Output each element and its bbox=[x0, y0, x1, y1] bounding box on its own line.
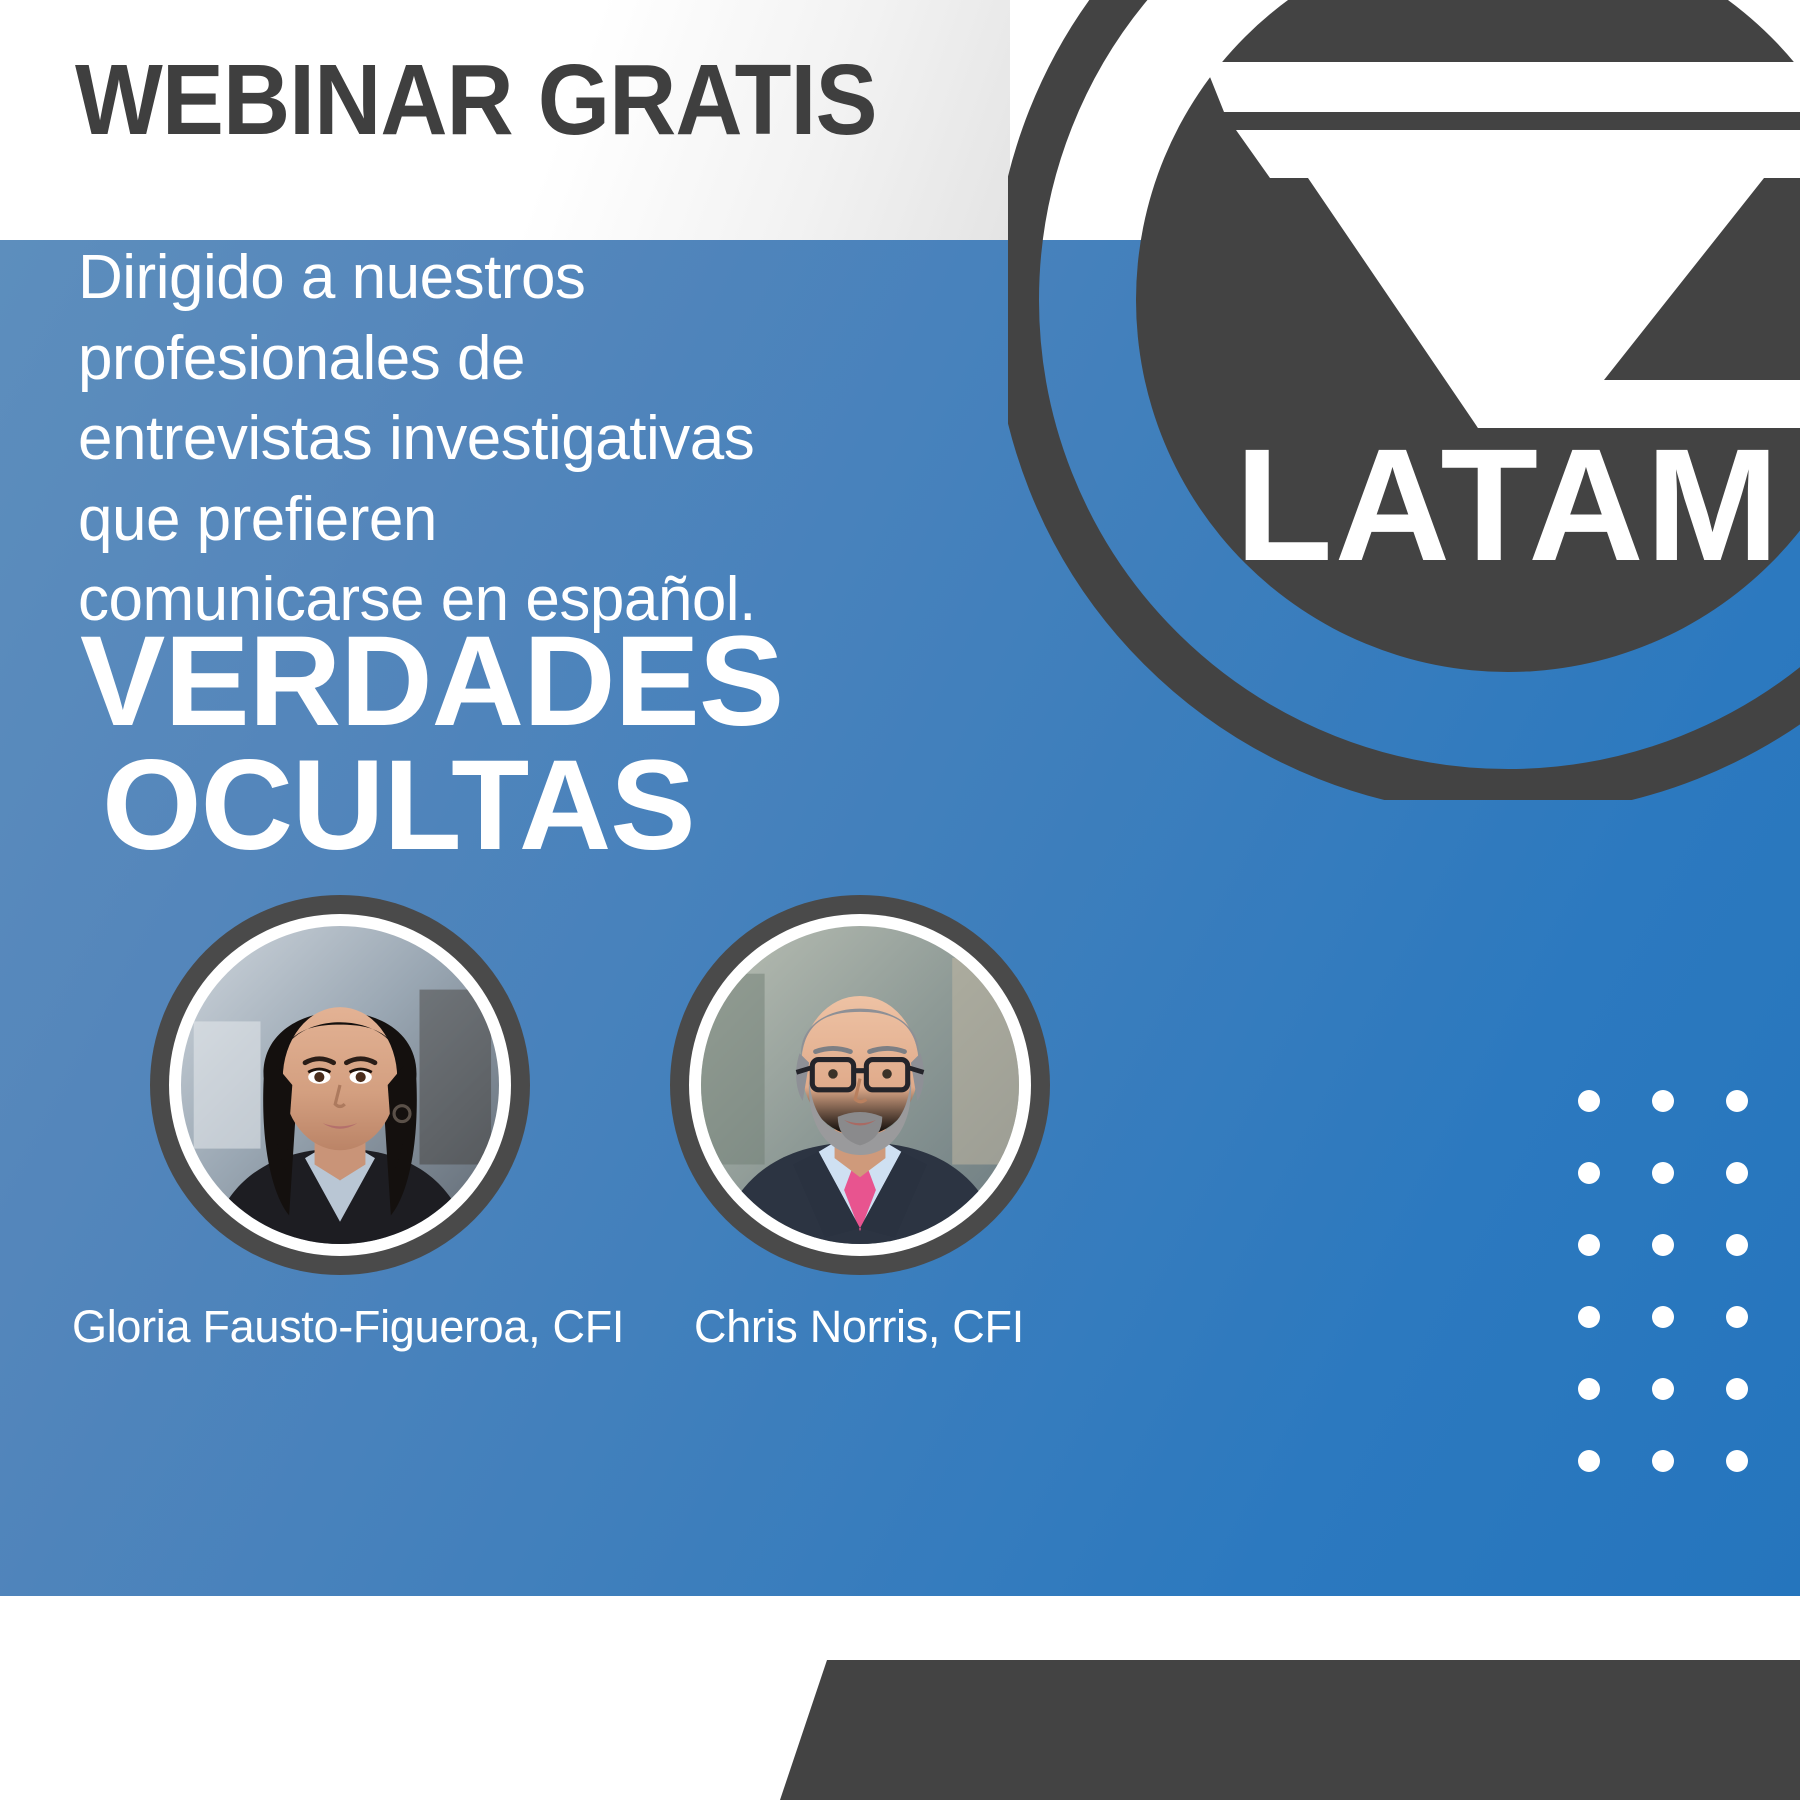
grid-dot bbox=[1578, 1378, 1600, 1400]
dot-grid-row bbox=[1578, 1234, 1800, 1306]
lead-copy: Dirigido a nuestros profesionales de ent… bbox=[78, 238, 878, 641]
grid-dot bbox=[1578, 1162, 1600, 1184]
grid-dot bbox=[1652, 1306, 1674, 1328]
avatar bbox=[150, 895, 530, 1275]
grid-dot bbox=[1652, 1378, 1674, 1400]
dot-grid-row bbox=[1578, 1162, 1800, 1234]
avatar-white-ring bbox=[169, 914, 511, 1256]
logo-wordmark: LATAM bbox=[1235, 415, 1781, 594]
grid-dot bbox=[1578, 1090, 1600, 1112]
avatar bbox=[670, 895, 1050, 1275]
speaker-name-1: Gloria Fausto-Figueroa, CFI bbox=[72, 1301, 624, 1353]
dot-grid-row bbox=[1578, 1306, 1800, 1378]
header-title: WEBINAR GRATIS bbox=[75, 48, 877, 153]
grid-dot bbox=[1726, 1162, 1748, 1184]
grid-dot bbox=[1726, 1450, 1748, 1472]
dot-grid-row bbox=[1578, 1378, 1800, 1450]
dot-grid-decoration bbox=[1578, 1090, 1800, 1522]
bottom-parallelogram-shape bbox=[780, 1660, 1800, 1800]
avatar-white-ring bbox=[689, 914, 1031, 1256]
grid-dot bbox=[1578, 1306, 1600, 1328]
grid-dot bbox=[1652, 1090, 1674, 1112]
speaker-card-2: Chris Norris, CFI bbox=[670, 895, 1050, 1353]
grid-dot bbox=[1652, 1450, 1674, 1472]
speaker-photo-chris bbox=[701, 926, 1019, 1244]
grid-dot bbox=[1578, 1450, 1600, 1472]
grid-dot bbox=[1726, 1378, 1748, 1400]
headline-line-2: OCULTAS bbox=[80, 744, 1020, 868]
grid-dot bbox=[1652, 1234, 1674, 1256]
grid-dot bbox=[1726, 1234, 1748, 1256]
grid-dot bbox=[1578, 1234, 1600, 1256]
bottom-parallelogram bbox=[0, 1596, 1800, 1800]
dot-grid-row bbox=[1578, 1450, 1800, 1522]
speaker-card-1: Gloria Fausto-Figueroa, CFI bbox=[150, 895, 624, 1353]
grid-dot bbox=[1726, 1306, 1748, 1328]
headline-line-1: VERDADES bbox=[80, 620, 1020, 744]
grid-dot bbox=[1652, 1162, 1674, 1184]
speaker-photo-gloria bbox=[181, 926, 499, 1244]
speaker-name-2: Chris Norris, CFI bbox=[694, 1301, 1050, 1353]
grid-dot bbox=[1726, 1090, 1748, 1112]
webinar-promo-poster: WEBINAR GRATIS LATAM Dirigido a nuestros… bbox=[0, 0, 1800, 1800]
wz-latam-logo-badge: LATAM bbox=[1008, 0, 1800, 800]
headline: VERDADES OCULTAS bbox=[80, 620, 1020, 868]
dot-grid-row bbox=[1578, 1090, 1800, 1162]
